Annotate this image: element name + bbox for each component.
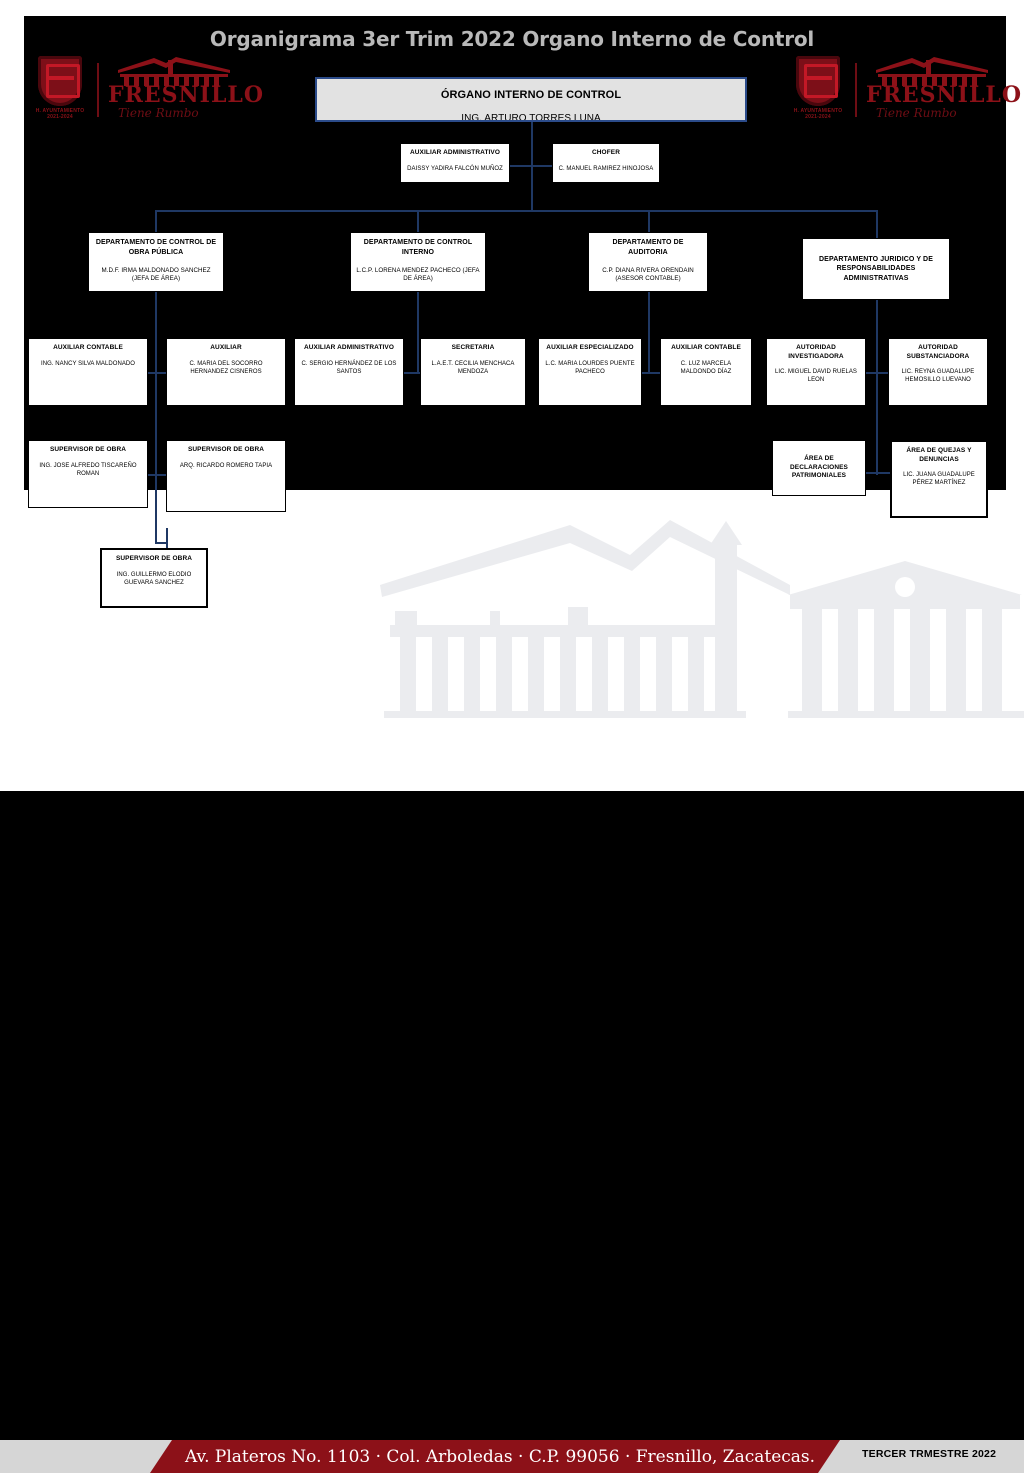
logo-divider xyxy=(97,63,99,117)
node-autoridad-substanciadora[interactable]: AUTORIDAD SUBSTANCIADORA LIC. REYNA GUAD… xyxy=(888,338,988,406)
footer-address: Av. Plateros No. 1103 · Col. Arboledas ·… xyxy=(150,1440,840,1473)
node-title: AUXILIAR CONTABLE xyxy=(53,344,123,353)
node-supervisor-obra-2[interactable]: SUPERVISOR DE OBRA ARQ. RICARDO ROMERO T… xyxy=(166,440,286,512)
node-supervisor-obra-1[interactable]: SUPERVISOR DE OBRA ING. JOSE ALFREDO TIS… xyxy=(28,440,148,508)
node-auxiliar-administrativo-staff[interactable]: AUXILIAR ADMINISTRATIVO DAISSY YADIRA FA… xyxy=(400,143,510,183)
page-margin-bottom xyxy=(0,764,1024,791)
wordmark-text: FRESNILLO xyxy=(108,84,240,106)
page-margin-top xyxy=(0,0,1024,16)
node-area-declaraciones-patrimoniales[interactable]: ÁREA DE DECLARACIONES PATRIMONIALES xyxy=(772,440,866,496)
connector-interno-trunk xyxy=(417,292,419,374)
node-title: CHOFER xyxy=(592,149,620,158)
node-title: SUPERVISOR DE OBRA xyxy=(116,555,192,564)
node-autoridad-investigadora[interactable]: AUTORIDAD INVESTIGADORA LIC. MIGUEL DAVI… xyxy=(766,338,866,406)
node-departamento-control-obra-publica[interactable]: DEPARTAMENTO DE CONTROL DE OBRA PÚBLICA … xyxy=(88,232,224,292)
logo-divider xyxy=(855,63,857,117)
node-person: LIC. JUANA GUADALUPE PÉREZ MARTÍNEZ xyxy=(896,471,982,487)
connector-obra-trunk xyxy=(155,292,157,542)
footer: Av. Plateros No. 1103 · Col. Arboledas ·… xyxy=(0,718,1024,764)
node-person: LIC. MIGUEL DAVID RUELAS LEON xyxy=(771,368,861,384)
node-person: ARQ. RICARDO ROMERO TAPIA xyxy=(180,462,272,470)
node-title: AUXILIAR ADMINISTRATIVO xyxy=(410,149,500,158)
coat-of-arms-icon: H. AYUNTAMIENTO 2021-2024 xyxy=(32,54,88,126)
node-person: C.P. DIANA RIVERA ORENDAIN (ASESOR CONTA… xyxy=(593,267,703,283)
node-person: C. SERGIO HERNÁNDEZ DE LOS SANTOS xyxy=(299,360,399,376)
connector-auditoria-trunk xyxy=(648,292,650,374)
node-person: L.A.E.T. CECILIA MENCHACA MENDOZA xyxy=(425,360,521,376)
node-person: DAISSY YADIRA FALCÓN MUÑOZ xyxy=(407,165,503,173)
organigrama-page: Organigrama 3er Trim 2022 Organo Interno… xyxy=(0,0,1024,791)
node-title: DEPARTAMENTO DE CONTROL INTERNO xyxy=(355,238,481,257)
crest-caption: H. AYUNTAMIENTO 2021-2024 xyxy=(790,108,846,120)
node-auxiliar-administrativo-interno[interactable]: AUXILIAR ADMINISTRATIVO C. SERGIO HERNÁN… xyxy=(294,338,404,406)
connector-sup3-down xyxy=(166,528,168,548)
node-title: ÁREA DE QUEJAS Y DENUNCIAS xyxy=(896,447,982,464)
logo-right: H. AYUNTAMIENTO 2021-2024 xyxy=(790,52,995,128)
node-title: AUXILIAR ADMINISTRATIVO xyxy=(304,344,394,353)
page-margin-left xyxy=(0,0,24,791)
node-title: SECRETARIA xyxy=(452,344,495,353)
node-auxiliar-especializado[interactable]: AUXILIAR ESPECIALIZADO L.C. MARIA LOURDE… xyxy=(538,338,642,406)
node-title: AUXILIAR xyxy=(210,344,242,353)
node-title: SUPERVISOR DE OBRA xyxy=(50,446,126,455)
connector-dept-obra-down xyxy=(155,210,157,232)
node-title: AUXILIAR CONTABLE xyxy=(671,344,741,353)
node-supervisor-obra-3[interactable]: SUPERVISOR DE OBRA ING. GUILLERMO ELODIO… xyxy=(100,548,208,608)
node-title: ÓRGANO INTERNO DE CONTROL xyxy=(441,88,621,102)
footer-period: TERCER TRMESTRE 2022 xyxy=(862,1448,996,1460)
wordmark-text: FRESNILLO xyxy=(866,84,998,106)
connector-dept-interno-down xyxy=(417,210,419,232)
logo-left: H. AYUNTAMIENTO 2021-2024 xyxy=(32,52,237,128)
node-organo-interno-de-control[interactable]: ÓRGANO INTERNO DE CONTROL ING. ARTURO TO… xyxy=(315,77,747,122)
node-departamento-control-interno[interactable]: DEPARTAMENTO DE CONTROL INTERNO L.C.P. L… xyxy=(350,232,486,292)
node-title: AUTORIDAD INVESTIGADORA xyxy=(771,344,861,361)
node-title: DEPARTAMENTO DE CONTROL DE OBRA PÚBLICA xyxy=(93,238,219,257)
wordmark-tagline: Tiene Rumbo xyxy=(876,106,996,120)
wordmark-tagline: Tiene Rumbo xyxy=(118,106,238,120)
connector-departments-bar xyxy=(155,210,877,212)
node-person: LIC. REYNA GUADALUPE HEMOSILLO LUEVANO xyxy=(893,368,983,384)
node-person: C. MARIA DEL SOCORRO HERNANDEZ CISNEROS xyxy=(171,360,281,376)
node-person: C. LUZ MARCELA MALDONDO DÍAZ xyxy=(665,360,747,376)
node-area-quejas-denuncias[interactable]: ÁREA DE QUEJAS Y DENUNCIAS LIC. JUANA GU… xyxy=(890,440,988,518)
node-person: ING. GUILLERMO ELODIO GUEVARA SANCHEZ xyxy=(106,571,202,587)
node-auxiliar-contable-obra[interactable]: AUXILIAR CONTABLE ING. NANCY SILVA MALDO… xyxy=(28,338,148,406)
node-title: DEPARTAMENTO DE AUDITORIA xyxy=(593,238,703,257)
node-chofer[interactable]: CHOFER C. MANUEL RAMIREZ HINOJOSA xyxy=(552,143,660,183)
node-person: ING. NANCY SILVA MALDONADO xyxy=(41,360,135,368)
node-title: SUPERVISOR DE OBRA xyxy=(188,446,264,455)
node-person: C. MANUEL RAMIREZ HINOJOSA xyxy=(559,165,654,173)
connector-dept-juridico-down xyxy=(876,210,878,238)
node-auxiliar-obra[interactable]: AUXILIAR C. MARIA DEL SOCORRO HERNANDEZ … xyxy=(166,338,286,406)
node-person: ING. ARTURO TORRES LUNA xyxy=(461,112,601,122)
connector-dept-auditoria-down xyxy=(648,210,650,232)
node-person: ING. JOSE ALFREDO TISCAREÑO ROMAN xyxy=(33,462,143,478)
node-person: L.C. MARIA LOURDES PUENTE PACHECO xyxy=(543,360,637,376)
node-title: DEPARTAMENTO JURIDICO Y DE RESPONSABILID… xyxy=(807,255,945,284)
node-person: L.C.P. LORENA MENDEZ PACHECO (JEFA DE ÁR… xyxy=(355,267,481,283)
coat-of-arms-icon: H. AYUNTAMIENTO 2021-2024 xyxy=(790,54,846,126)
page-margin-right xyxy=(1006,0,1024,791)
node-departamento-auditoria[interactable]: DEPARTAMENTO DE AUDITORIA C.P. DIANA RIV… xyxy=(588,232,708,292)
page-title: Organigrama 3er Trim 2022 Organo Interno… xyxy=(0,27,1024,51)
node-title: ÁREA DE DECLARACIONES PATRIMONIALES xyxy=(777,455,861,481)
node-title: AUXILIAR ESPECIALIZADO xyxy=(546,344,633,353)
node-auxiliar-contable-auditoria[interactable]: AUXILIAR CONTABLE C. LUZ MARCELA MALDOND… xyxy=(660,338,752,406)
node-title: AUTORIDAD SUBSTANCIADORA xyxy=(893,344,983,361)
node-departamento-juridico-responsabilidades[interactable]: DEPARTAMENTO JURIDICO Y DE RESPONSABILID… xyxy=(802,238,950,300)
crest-caption: H. AYUNTAMIENTO 2021-2024 xyxy=(32,108,88,120)
node-secretaria[interactable]: SECRETARIA L.A.E.T. CECILIA MENCHACA MEN… xyxy=(420,338,526,406)
connector-juridico-trunk xyxy=(876,300,878,475)
node-person: M.D.F. IRMA MALDONADO SANCHEZ (JEFA DE Á… xyxy=(93,267,219,283)
